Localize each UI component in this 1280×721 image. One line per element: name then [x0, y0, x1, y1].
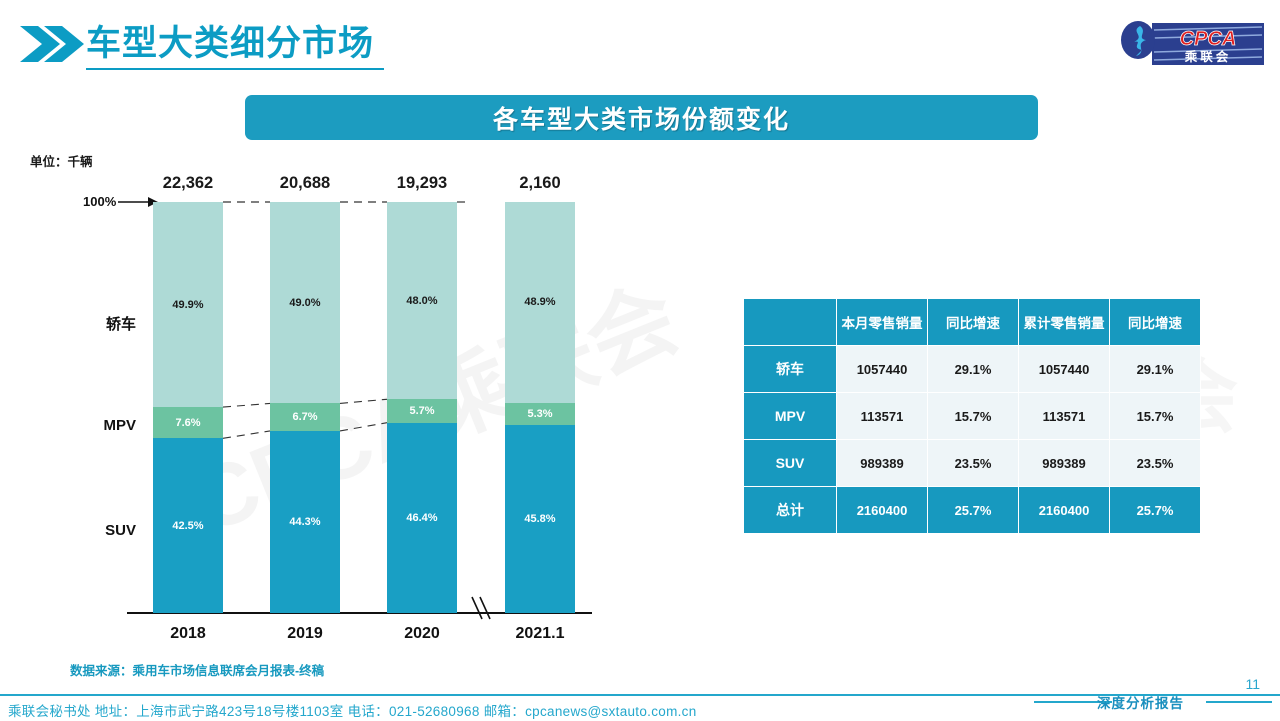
- table-cell: 1057440: [1019, 346, 1110, 393]
- table-header-row: 本月零售销量同比增速累计零售销量同比增速: [744, 299, 1201, 346]
- bar-total-label-2019: 20,688: [254, 174, 356, 193]
- table-cell: 29.1%: [1110, 346, 1201, 393]
- stacked-bar-chart: 100%49.9%7.6%42.5%22,362201849.0%6.7%44.…: [0, 160, 640, 650]
- section-banner: 各车型大类市场份额变化: [245, 95, 1038, 140]
- table-cell: 23.5%: [928, 440, 1019, 487]
- page-title-underline: [86, 68, 384, 70]
- segment-value-label: 7.6%: [175, 417, 200, 429]
- page-title: 车型大类细分市场: [86, 22, 374, 66]
- svg-text:乘联会: 乘联会: [1184, 49, 1232, 64]
- table-col-header-2: 同比增速: [928, 299, 1019, 346]
- segment-value-label: 48.0%: [406, 295, 437, 307]
- table-cell: 2160400: [837, 487, 928, 534]
- category-label-2020: 2020: [365, 625, 479, 643]
- source-note: 数据来源：乘用车市场信息联席会月报表-终稿: [70, 660, 324, 679]
- svg-text:CPDA: CPDA: [1128, 59, 1148, 66]
- segment-value-label: 42.5%: [172, 520, 203, 532]
- table-cell: 113571: [837, 393, 928, 440]
- table-cell: 989389: [837, 440, 928, 487]
- bar-segment-car-2019: 49.0%: [270, 202, 340, 403]
- svg-text:CPCA: CPCA: [1180, 28, 1237, 50]
- bar-segment-mpv-2020: 5.7%: [387, 399, 457, 422]
- series-label-MPV: MPV: [40, 417, 136, 434]
- bar-total-label-2021.1: 2,160: [489, 174, 591, 193]
- table-row-header: 总计: [744, 487, 837, 534]
- page-number: 11: [1245, 676, 1260, 692]
- segment-value-label: 45.8%: [524, 513, 555, 525]
- segment-value-label: 49.0%: [289, 297, 320, 309]
- bar-total-label-2018: 22,362: [137, 174, 239, 193]
- bar-segment-mpv-2021.1: 5.3%: [505, 403, 575, 425]
- table-cell: 113571: [1019, 393, 1110, 440]
- table-col-header-4: 同比增速: [1110, 299, 1201, 346]
- table-row: 轿车105744029.1%105744029.1%: [744, 346, 1201, 393]
- table-cell: 29.1%: [928, 346, 1019, 393]
- cpca-logo: CPCA 乘联会 CPDA: [1118, 18, 1268, 70]
- bar-segment-suv-2018: 42.5%: [153, 438, 223, 613]
- table-cell: 1057440: [837, 346, 928, 393]
- bar-segment-suv-2020: 46.4%: [387, 423, 457, 614]
- table-row: MPV11357115.7%11357115.7%: [744, 393, 1201, 440]
- segment-value-label: 48.9%: [524, 296, 555, 308]
- series-label-轿车: 轿车: [40, 313, 136, 334]
- bar-segment-suv-2019: 44.3%: [270, 431, 340, 613]
- table-cell: 15.7%: [928, 393, 1019, 440]
- slide-root: 车型大类细分市场 CPCA 乘联会 CPDA 各车型大类市场份额变化 单位：千辆…: [0, 0, 1280, 720]
- table-header: 本月零售销量同比增速累计零售销量同比增速: [744, 299, 1201, 346]
- table-cell: 2160400: [1019, 487, 1110, 534]
- bar-segment-suv-2021.1: 45.8%: [505, 425, 575, 613]
- category-label-2019: 2019: [248, 625, 362, 643]
- table-row: 总计216040025.7%216040025.7%: [744, 487, 1201, 534]
- table-row-header: SUV: [744, 440, 837, 487]
- bar-segment-mpv-2018: 7.6%: [153, 407, 223, 438]
- segment-value-label: 6.7%: [292, 411, 317, 423]
- table-col-header-1: 本月零售销量: [837, 299, 928, 346]
- table-cell: 15.7%: [1110, 393, 1201, 440]
- table-cell: 989389: [1019, 440, 1110, 487]
- bar-segment-car-2020: 48.0%: [387, 202, 457, 399]
- segment-value-label: 46.4%: [406, 512, 437, 524]
- series-label-SUV: SUV: [40, 522, 136, 539]
- category-label-2021.1: 2021.1: [483, 625, 597, 643]
- summary-table: 本月零售销量同比增速累计零售销量同比增速 轿车105744029.1%10574…: [743, 298, 1201, 534]
- bar-segment-mpv-2019: 6.7%: [270, 403, 340, 431]
- footer-report-label: 深度分析报告: [1097, 692, 1184, 712]
- bar-total-label-2020: 19,293: [371, 174, 473, 193]
- table-corner-cell: [744, 299, 837, 346]
- table-row: SUV98938923.5%98938923.5%: [744, 440, 1201, 487]
- category-label-2018: 2018: [131, 625, 245, 643]
- segment-value-label: 44.3%: [289, 516, 320, 528]
- bar-segment-car-2018: 49.9%: [153, 202, 223, 407]
- segment-value-label: 5.7%: [409, 405, 434, 417]
- table-row-header: 轿车: [744, 346, 837, 393]
- table-col-header-3: 累计零售销量: [1019, 299, 1110, 346]
- table-body: 轿车105744029.1%105744029.1%MPV11357115.7%…: [744, 346, 1201, 534]
- segment-value-label: 49.9%: [172, 299, 203, 311]
- table-cell: 25.7%: [928, 487, 1019, 534]
- bar-segment-car-2021.1: 48.9%: [505, 202, 575, 403]
- footer-contact: 乘联会秘书处 地址：上海市武宁路423号18号楼1103室 电话：021-526…: [8, 700, 697, 720]
- double-chevron-right-icon: [18, 24, 84, 64]
- banner-title: 各车型大类市场份额变化: [493, 100, 790, 136]
- table-cell: 23.5%: [1110, 440, 1201, 487]
- segment-value-label: 5.3%: [527, 408, 552, 420]
- table-row-header: MPV: [744, 393, 837, 440]
- table-cell: 25.7%: [1110, 487, 1201, 534]
